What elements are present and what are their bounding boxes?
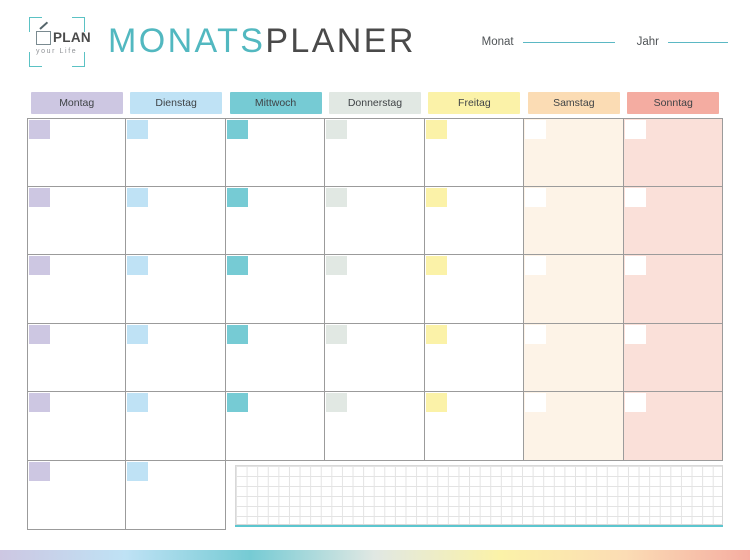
day-number-marker[interactable] — [625, 188, 646, 207]
logo-tagline: your Life — [36, 47, 77, 56]
month-label: Monat — [482, 36, 514, 48]
calendar-day-cell[interactable] — [425, 255, 524, 324]
day-number-marker[interactable] — [29, 325, 50, 344]
year-label: Jahr — [637, 36, 659, 48]
day-number-marker[interactable] — [625, 325, 646, 344]
weekday-label: Sonntag — [627, 92, 719, 114]
weekday-header-samstag: Samstag — [524, 92, 623, 114]
day-number-marker[interactable] — [625, 256, 646, 275]
calendar-row — [27, 255, 723, 324]
calendar-day-cell[interactable] — [624, 118, 723, 187]
weekday-label: Mittwoch — [230, 92, 322, 114]
calendar-row — [27, 461, 723, 530]
day-number-marker[interactable] — [29, 120, 50, 139]
logo-page-icon — [36, 31, 51, 45]
calendar-day-cell[interactable] — [27, 324, 126, 393]
calendar-row — [27, 187, 723, 256]
calendar-row — [27, 392, 723, 461]
day-number-marker[interactable] — [227, 188, 248, 207]
day-number-marker[interactable] — [127, 462, 148, 481]
calendar-day-cell[interactable] — [226, 118, 325, 187]
calendar-day-cell[interactable] — [126, 461, 225, 530]
day-number-marker[interactable] — [525, 393, 546, 412]
day-number-marker[interactable] — [326, 393, 347, 412]
calendar-row — [27, 118, 723, 187]
page-header: PLAN your Life MONATSPLANER Monat Jahr — [0, 0, 750, 88]
calendar-day-cell[interactable] — [325, 392, 424, 461]
day-number-marker[interactable] — [127, 393, 148, 412]
bottom-gradient-strip — [0, 550, 750, 560]
calendar-day-cell[interactable] — [524, 187, 623, 256]
day-number-marker[interactable] — [127, 120, 148, 139]
weekday-header-freitag: Freitag — [425, 92, 524, 114]
day-number-marker[interactable] — [326, 325, 347, 344]
calendar-day-cell[interactable] — [325, 255, 424, 324]
day-number-marker[interactable] — [525, 120, 546, 139]
calendar-day-cell[interactable] — [126, 118, 225, 187]
weekday-label: Donnerstag — [329, 92, 421, 114]
day-number-marker[interactable] — [29, 188, 50, 207]
day-number-marker[interactable] — [625, 393, 646, 412]
day-number-marker[interactable] — [127, 188, 148, 207]
calendar-day-cell[interactable] — [624, 255, 723, 324]
day-number-marker[interactable] — [29, 393, 50, 412]
calendar-row — [27, 324, 723, 393]
calendar-day-cell[interactable] — [126, 187, 225, 256]
day-number-marker[interactable] — [326, 188, 347, 207]
day-number-marker[interactable] — [29, 256, 50, 275]
day-number-marker[interactable] — [525, 325, 546, 344]
notes-area — [235, 465, 723, 529]
calendar-day-cell[interactable] — [524, 324, 623, 393]
calendar-day-cell[interactable] — [425, 392, 524, 461]
day-number-marker[interactable] — [625, 120, 646, 139]
calendar-day-cell[interactable] — [325, 324, 424, 393]
day-number-marker[interactable] — [426, 393, 447, 412]
weekday-label: Freitag — [428, 92, 520, 114]
day-number-marker[interactable] — [525, 256, 546, 275]
weekday-label: Samstag — [528, 92, 620, 114]
calendar-day-cell[interactable] — [27, 392, 126, 461]
calendar-day-cell[interactable] — [624, 392, 723, 461]
day-number-marker[interactable] — [227, 120, 248, 139]
page-title: MONATSPLANER — [108, 22, 416, 61]
weekday-header-donnerstag: Donnerstag — [325, 92, 424, 114]
calendar-day-cell[interactable] — [624, 324, 723, 393]
calendar-day-cell[interactable] — [27, 461, 126, 530]
brand-logo: PLAN your Life — [26, 14, 88, 70]
calendar-day-cell[interactable] — [226, 392, 325, 461]
calendar-day-cell[interactable] — [27, 118, 126, 187]
weekday-header-dienstag: Dienstag — [126, 92, 225, 114]
day-number-marker[interactable] — [426, 325, 447, 344]
day-number-marker[interactable] — [29, 462, 50, 481]
calendar-day-cell[interactable] — [27, 187, 126, 256]
notes-grid-paper[interactable] — [235, 465, 723, 525]
day-number-marker[interactable] — [227, 393, 248, 412]
calendar-day-cell[interactable] — [126, 255, 225, 324]
weekday-label: Montag — [31, 92, 123, 114]
day-number-marker[interactable] — [326, 120, 347, 139]
calendar-day-cell[interactable] — [226, 187, 325, 256]
calendar-day-cell[interactable] — [325, 187, 424, 256]
calendar-day-cell[interactable] — [524, 392, 623, 461]
calendar-day-cell[interactable] — [425, 324, 524, 393]
notes-underline — [235, 525, 723, 528]
month-input-line[interactable] — [523, 42, 615, 43]
calendar-day-cell[interactable] — [524, 255, 623, 324]
calendar-day-cell[interactable] — [226, 255, 325, 324]
calendar-day-cell[interactable] — [524, 118, 623, 187]
day-number-marker[interactable] — [426, 120, 447, 139]
day-number-marker[interactable] — [525, 188, 546, 207]
weekday-header-row: MontagDienstagMittwochDonnerstagFreitagS… — [27, 92, 723, 114]
day-number-marker[interactable] — [426, 256, 447, 275]
calendar-day-cell[interactable] — [425, 187, 524, 256]
calendar-day-cell[interactable] — [126, 392, 225, 461]
day-number-marker[interactable] — [127, 256, 148, 275]
calendar-grid — [27, 118, 723, 530]
day-number-marker[interactable] — [227, 256, 248, 275]
calendar-day-cell[interactable] — [226, 324, 325, 393]
weekday-header-montag: Montag — [27, 92, 126, 114]
day-number-marker[interactable] — [426, 188, 447, 207]
day-number-marker[interactable] — [326, 256, 347, 275]
weekday-header-mittwoch: Mittwoch — [226, 92, 325, 114]
day-number-marker[interactable] — [227, 325, 248, 344]
calendar-day-cell[interactable] — [325, 118, 424, 187]
month-year-fields: Monat Jahr — [482, 36, 728, 48]
calendar-day-cell[interactable] — [425, 118, 524, 187]
weekday-label: Dienstag — [130, 92, 222, 114]
day-number-marker[interactable] — [127, 325, 148, 344]
calendar-day-cell[interactable] — [27, 255, 126, 324]
page-title-dark: PLANER — [265, 22, 415, 60]
calendar-day-cell[interactable] — [126, 324, 225, 393]
logo-name: PLAN — [53, 31, 91, 45]
weekday-header-sonntag: Sonntag — [624, 92, 723, 114]
year-input-line[interactable] — [668, 42, 728, 43]
page-title-accent: MONATS — [108, 22, 265, 60]
calendar-day-cell[interactable] — [624, 187, 723, 256]
